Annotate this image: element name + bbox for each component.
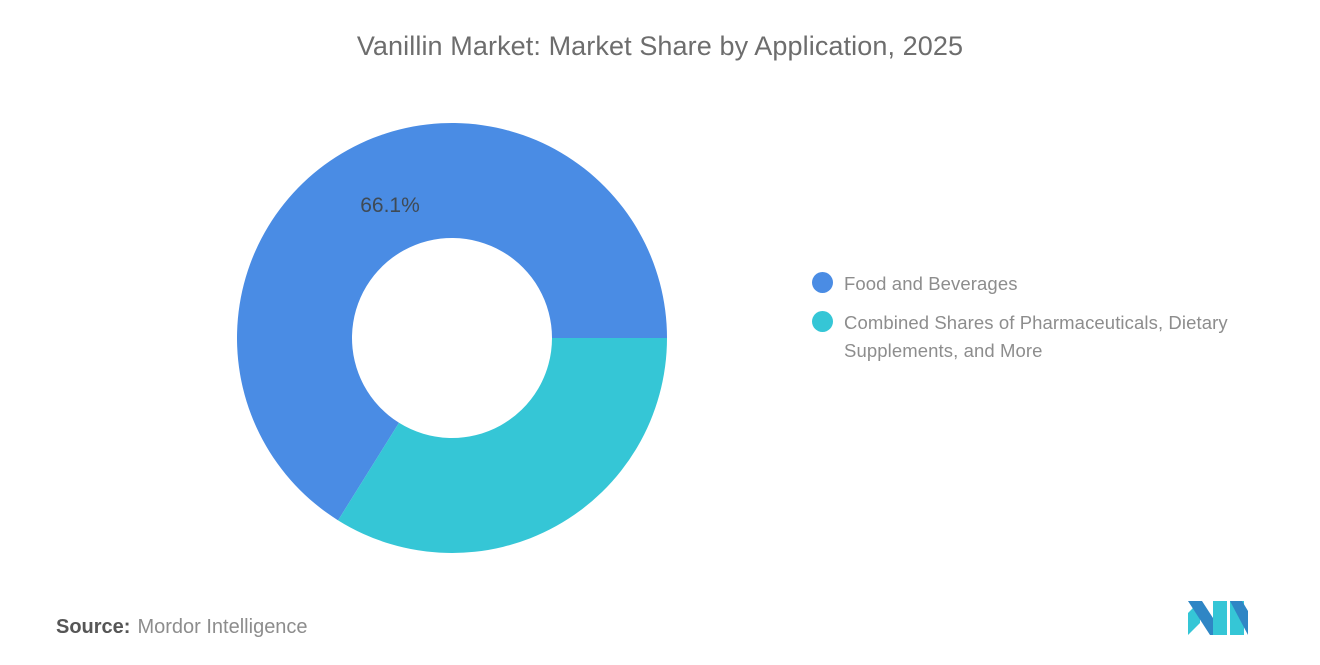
- logo-svg: [1186, 599, 1250, 637]
- legend-label-food-and-beverages: Food and Beverages: [844, 270, 1018, 298]
- mordor-intelligence-logo-icon: [1186, 599, 1250, 637]
- donut-chart-svg: [237, 123, 667, 553]
- donut-chart: [237, 123, 667, 553]
- chart-title: Vanillin Market: Market Share by Applica…: [0, 29, 1320, 63]
- source-value: Mordor Intelligence: [137, 616, 307, 638]
- legend-swatch-circle-icon: [812, 311, 833, 332]
- chart-canvas: Vanillin Market: Market Share by Applica…: [0, 0, 1320, 665]
- legend-item-combined-shares[interactable]: Combined Shares of Pharmaceuticals, Diet…: [812, 309, 1272, 365]
- donut-slices: [237, 123, 667, 553]
- chart-legend: Food and Beverages Combined Shares of Ph…: [812, 270, 1272, 376]
- legend-swatch-circle-icon: [812, 272, 833, 293]
- legend-label-combined-shares: Combined Shares of Pharmaceuticals, Diet…: [844, 309, 1244, 365]
- slice-data-label-food-and-beverages: 66.1%: [340, 193, 440, 219]
- legend-item-food-and-beverages[interactable]: Food and Beverages: [812, 270, 1272, 298]
- source-line: Source:Mordor Intelligence: [56, 613, 308, 641]
- donut-slice-combined-shares[interactable]: [338, 338, 667, 553]
- source-label: Source:: [56, 616, 130, 638]
